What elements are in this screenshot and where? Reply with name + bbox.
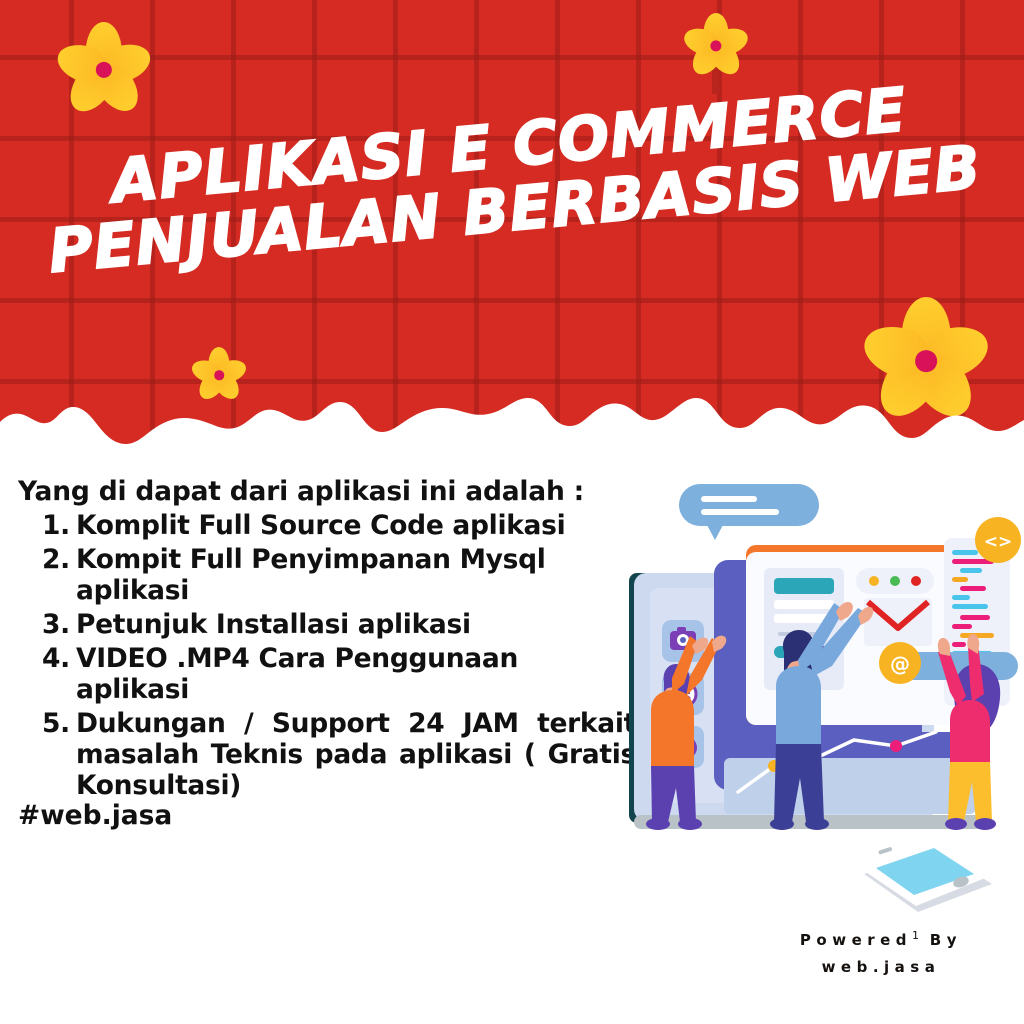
- list-item: Dukungan / Support 24 JAM terkait masala…: [76, 708, 638, 801]
- list-item: Kompit Full Penyimpanan Mysql aplikasi: [76, 544, 638, 606]
- hashtag-text: #web.jasa: [18, 800, 172, 831]
- code-badge-label: <>: [984, 532, 1013, 552]
- by-label: By: [930, 931, 962, 949]
- dot-red: [911, 576, 921, 586]
- flower-decoration-top-left: [56, 22, 152, 118]
- list-item-line: Konsultasi): [76, 770, 636, 801]
- brand-name: web.jasa: [800, 954, 962, 982]
- list-item: Petunjuk Installasi aplikasi: [76, 609, 638, 640]
- chat-bubble-icon: [679, 484, 819, 540]
- features-list: Komplit Full Source Code aplikasi Kompit…: [18, 510, 638, 801]
- list-item: Komplit Full Source Code aplikasi: [76, 510, 638, 541]
- dot-green: [890, 576, 900, 586]
- footer-branding: Powered1 By web.jasa: [800, 926, 962, 983]
- chart-point-pink: [890, 740, 902, 752]
- list-item-line: masalah Teknis pada aplikasi ( Gratis: [76, 739, 636, 770]
- powered-label: Powered: [800, 931, 912, 949]
- poster-canvas: APLIKASI E COMMERCE PENJUALAN BERBASIS W…: [0, 0, 1024, 1024]
- envelope-icon: [864, 598, 932, 646]
- content-block: Yang di dapat dari aplikasi ini adalah :…: [18, 476, 638, 801]
- status-dots: [856, 568, 934, 594]
- web-development-team-illustration: <> @: [606, 470, 1024, 930]
- flower-decoration-top-center: [683, 13, 749, 79]
- monitor-lower: [724, 758, 976, 814]
- wavy-edge: [0, 360, 1024, 470]
- smartphone-icon: [860, 840, 992, 912]
- mail-badge-label: @: [890, 652, 910, 676]
- list-item: VIDEO .MP4 Cara Penggunaan aplikasi: [76, 643, 638, 705]
- dot-yellow: [869, 576, 879, 586]
- mail-badge: @: [879, 642, 921, 684]
- footer-superscript: 1: [912, 929, 919, 942]
- list-item-line: Dukungan / Support 24 JAM terkait: [76, 708, 636, 739]
- lead-text: Yang di dapat dari aplikasi ini adalah :: [18, 476, 638, 507]
- code-badge: <>: [975, 517, 1021, 563]
